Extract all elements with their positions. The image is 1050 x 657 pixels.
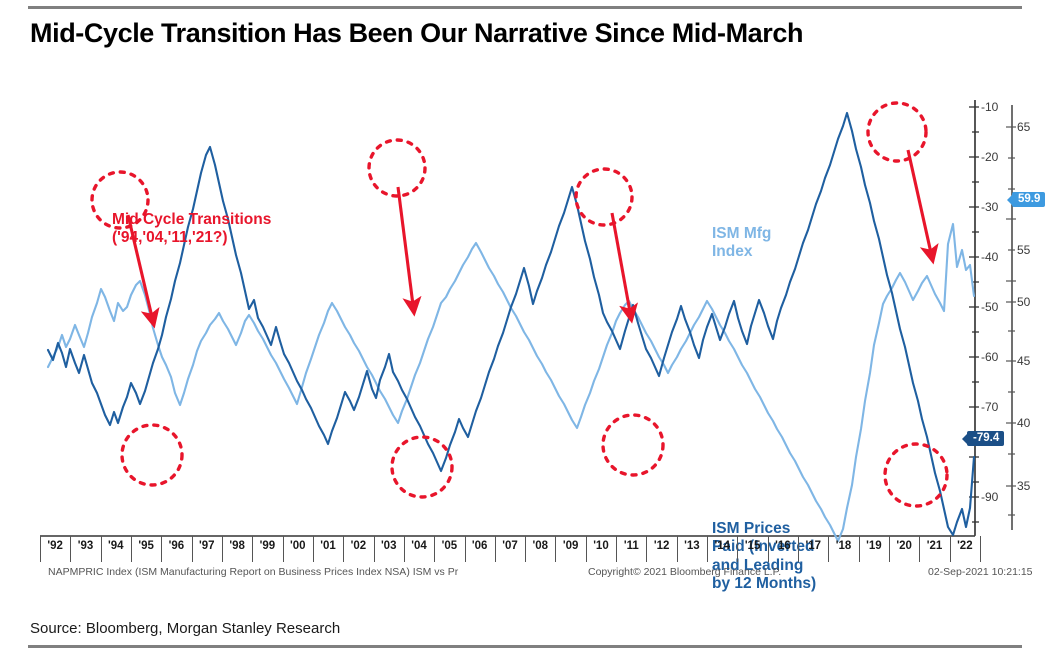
chart-plot-area[interactable]: Mid Cycle Transitions ('94,'04,'11,'21?)… [0,95,1050,595]
x-axis-tick [677,536,678,562]
x-axis-label: '20 [896,540,912,552]
callout-circles [92,103,947,506]
x-axis-label: '03 [381,540,397,552]
x-axis-label: '07 [502,540,518,552]
circle-mid-cycle-2021-ppi [885,444,947,506]
axis-label-inner--10: -10 [981,100,998,114]
x-axis-label: '02 [351,540,367,552]
x-axis-label: '21 [927,540,943,552]
x-axis-label: '01 [320,540,336,552]
axis-label-inner--70: -70 [981,400,998,414]
x-axis-tick [828,536,829,562]
x-axis-tick [192,536,193,562]
x-axis-tick [40,536,41,562]
axis-label-inner--90: -90 [981,490,998,504]
x-axis-label: '09 [563,540,579,552]
x-axis-label: '05 [442,540,458,552]
x-axis-label: '11 [624,540,639,552]
x-axis-label: '16 [775,540,791,552]
x-axis-tick [252,536,253,562]
x-axis-tick [495,536,496,562]
x-axis-label: '04 [411,540,427,552]
x-axis-tick-strip: '92'93'94'95'96'97'98'99'00'01'02'03'04'… [40,536,980,562]
axis-label-outer-40: 40 [1017,416,1030,430]
x-axis-tick [980,536,981,562]
badge-pointer-mfg [1007,195,1012,205]
x-axis-label: '99 [260,540,276,552]
source-note: Source: Bloomberg, Morgan Stanley Resear… [30,620,340,637]
annotation-ism-mfg-index: ISM Mfg Index [712,225,771,262]
axis-label-outer-45: 45 [1017,354,1030,368]
axis-label-inner--60: -60 [981,350,998,364]
x-axis-label: '06 [472,540,488,552]
axis-label-outer-65: 65 [1017,120,1030,134]
x-axis-tick [859,536,860,562]
x-axis-label: '98 [229,540,245,552]
x-axis-tick [101,536,102,562]
x-axis-label: '93 [78,540,94,552]
annotation-mid-cycle-transitions: Mid Cycle Transitions ('94,'04,'11,'21?) [112,211,271,248]
footer-series-description: NAPMPRIC Index (ISM Manufacturing Report… [48,566,458,578]
x-axis-tick [646,536,647,562]
axis-label-inner--40: -40 [981,250,998,264]
x-axis-label: '12 [654,540,670,552]
x-axis-label: '95 [138,540,154,552]
x-axis-tick [131,536,132,562]
x-axis-tick [434,536,435,562]
x-axis-tick [768,536,769,562]
axis-label-outer-35: 35 [1017,479,1030,493]
badge-ppi-text: -79.4 [973,432,999,444]
x-axis-label: '94 [108,540,124,552]
x-axis-tick [525,536,526,562]
x-axis-label: '00 [290,540,306,552]
axis-ticks-outer [1006,127,1016,515]
x-axis-tick [919,536,920,562]
axis-label-inner--20: -20 [981,150,998,164]
series-ism-prices-paid-inverted [48,113,974,535]
top-divider [28,6,1022,9]
arrow-2011 [612,213,630,312]
x-axis-label: '17 [805,540,821,552]
bottom-divider [28,645,1022,648]
badge-mfg-text: 59.9 [1018,193,1040,205]
x-axis-label: '15 [745,540,761,552]
badge-pointer-ppi [962,434,967,444]
status-badge-ism-mfg-value: 59.9 [1012,192,1045,207]
x-axis-tick [616,536,617,562]
x-axis-label: '19 [866,540,882,552]
circle-mid-cycle-2011-ppi [603,415,663,475]
arrow-2021 [908,150,931,253]
x-axis-tick [313,536,314,562]
x-axis-tick [555,536,556,562]
axis-label-inner--30: -30 [981,200,998,214]
x-axis-label: '14 [714,540,730,552]
series-ism-mfg-index [48,224,974,541]
x-axis-label: '18 [836,540,852,552]
circle-mid-cycle-1994-ppi [122,425,182,485]
circle-mid-cycle-2021-mfg [868,103,926,161]
x-axis-tick [798,536,799,562]
x-axis-label: '08 [533,540,549,552]
x-axis-label: '97 [199,540,215,552]
axis-label-outer-50: 50 [1017,295,1030,309]
x-axis-tick [283,536,284,562]
x-axis-tick [404,536,405,562]
x-axis-tick [707,536,708,562]
footer-timestamp: 02-Sep-2021 10:21:15 [928,566,1033,578]
x-axis-label: '10 [593,540,609,552]
x-axis-tick [222,536,223,562]
x-axis-tick [374,536,375,562]
x-axis-label: '22 [957,540,973,552]
axis-label-inner--50: -50 [981,300,998,314]
status-badge-prices-paid-value: -79.4 [967,431,1004,446]
circle-mid-cycle-2011-mfg [576,169,632,225]
axis-frame [40,100,1012,536]
chart-svg [0,95,1050,595]
x-axis-label: '96 [169,540,185,552]
arrow-2004 [398,187,413,305]
footer-copyright: Copyright© 2021 Bloomberg Finance L.P. [588,566,781,578]
x-axis-tick [950,536,951,562]
x-axis-tick [889,536,890,562]
x-axis-tick [737,536,738,562]
axis-label-outer-55: 55 [1017,243,1030,257]
x-axis-tick [70,536,71,562]
x-axis-tick [161,536,162,562]
x-axis-label: '13 [684,540,700,552]
x-axis-label: '92 [47,540,63,552]
x-axis-tick [343,536,344,562]
x-axis-tick [586,536,587,562]
x-axis-tick [465,536,466,562]
page-title: Mid-Cycle Transition Has Been Our Narrat… [30,18,1020,49]
